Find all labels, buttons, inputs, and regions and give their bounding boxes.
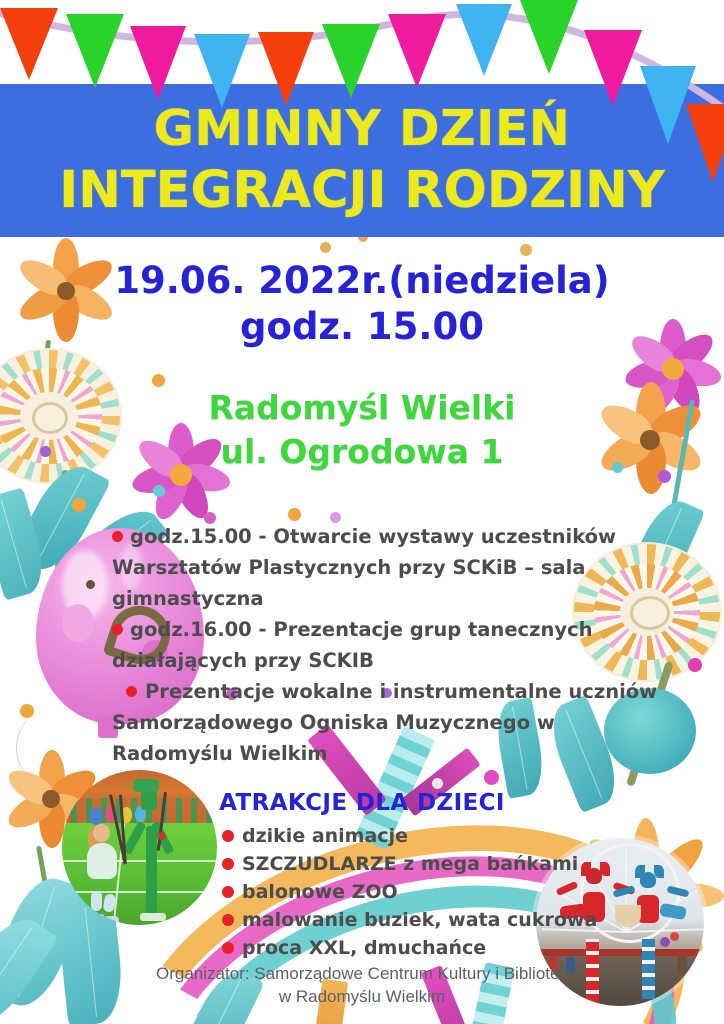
event-date: 19.06. 2022r.(niedziela) xyxy=(0,258,724,304)
teal-leaf xyxy=(56,897,127,1024)
bunting-flag-icon xyxy=(456,4,512,76)
petal xyxy=(646,882,724,910)
petal xyxy=(14,253,72,302)
program-list: godz.15.00 - Otwarcie wystawy uczestnikó… xyxy=(112,521,672,769)
confetti-dot xyxy=(432,778,443,789)
event-city: Radomyśl Wielki xyxy=(0,386,724,430)
lolly-ring xyxy=(620,588,674,636)
lolly-swirl xyxy=(630,596,670,630)
bullet-dot xyxy=(222,858,234,870)
petal xyxy=(665,327,719,378)
petal xyxy=(661,362,706,417)
bullet-dot xyxy=(112,624,123,635)
petal xyxy=(53,238,79,290)
confetti-dot xyxy=(320,242,331,253)
teal-leaf xyxy=(621,493,705,607)
attraction-text: dzikie animacje xyxy=(242,825,408,847)
crayon-teal xyxy=(355,726,435,849)
confetti-dot xyxy=(382,688,392,698)
petal xyxy=(581,886,656,961)
teal-leaf xyxy=(178,963,265,1024)
playground-photo xyxy=(62,770,217,925)
title-banner: GMINNY DZIEŃ INTEGRACJI RODZINY xyxy=(0,84,724,237)
teal-leaf xyxy=(0,907,59,1024)
petal xyxy=(581,831,656,906)
petal xyxy=(129,460,184,498)
crayon-magenta xyxy=(307,724,387,816)
petal xyxy=(641,363,685,418)
lollipop-stick-left xyxy=(54,470,69,580)
teal-leaf xyxy=(492,697,548,798)
petal xyxy=(595,397,658,451)
event-time: godz. 15.00 xyxy=(0,304,724,350)
flower-stem xyxy=(667,400,694,529)
petal xyxy=(46,763,101,810)
bunting-flag-icon xyxy=(0,8,58,80)
attraction-text: malowanie buziek, wata cukrowa xyxy=(242,909,597,931)
program-item: godz.15.00 - Otwarcie wystawy uczestnikó… xyxy=(112,521,672,614)
program-item-text: godz.15.00 - Otwarcie wystawy uczestnikó… xyxy=(112,525,616,610)
confetti-dot xyxy=(612,462,623,473)
flower-stem xyxy=(36,846,58,941)
balloon-knot xyxy=(98,716,118,738)
crayon-magenta xyxy=(401,747,481,816)
program-item: godz.16.00 - Prezentacje grup tanecznych… xyxy=(112,614,672,676)
flower-center xyxy=(640,430,660,450)
lolly-ring xyxy=(574,544,720,680)
teal-leaf xyxy=(67,499,170,593)
teal-leaf xyxy=(0,870,87,1015)
petal xyxy=(660,319,686,368)
crayon-teal xyxy=(463,962,515,1024)
confetti-dot xyxy=(484,770,499,785)
petal xyxy=(169,467,215,523)
petal xyxy=(636,382,666,438)
attraction-item: SZCZUDLARZE z mega bańkami xyxy=(222,850,642,878)
petal xyxy=(53,290,79,342)
organizer-block: Organizator: Samorządowe Centrum Kultury… xyxy=(0,962,724,1008)
balloon-mouth xyxy=(103,598,178,672)
confetti-dot xyxy=(72,498,86,512)
petal xyxy=(178,460,232,496)
lolly-ring xyxy=(594,564,700,660)
petal xyxy=(39,750,65,799)
teal-leaf xyxy=(11,456,111,580)
bunting-flag-icon xyxy=(66,14,124,88)
petal xyxy=(39,750,65,799)
lolly-swirl xyxy=(32,402,68,434)
petal xyxy=(632,896,660,974)
flower-center xyxy=(662,358,684,380)
petal xyxy=(3,788,58,835)
bullet-dot xyxy=(222,830,234,842)
petal xyxy=(636,886,711,961)
petal xyxy=(581,886,656,961)
pink-flower-midleft xyxy=(126,422,236,528)
flower-center xyxy=(170,464,192,486)
poster-title-line-1: GMINNY DZIEŃ xyxy=(0,98,724,160)
petal xyxy=(168,423,194,473)
rainbow-ribbon-pink xyxy=(104,798,717,1024)
bullet-dot xyxy=(126,686,137,697)
confetti-dot xyxy=(226,688,238,700)
teal-leaf xyxy=(0,487,51,600)
confetti-dot xyxy=(20,704,34,718)
confetti-dot xyxy=(204,512,216,524)
orange-flower-lowerleft xyxy=(0,748,108,854)
confetti-dot xyxy=(288,508,301,521)
petal xyxy=(39,750,65,799)
bunting-flag-icon xyxy=(520,0,578,74)
confetti-dot xyxy=(153,485,165,497)
rainbow-ribbon-orange xyxy=(83,764,724,1024)
orange-flower-topleft xyxy=(8,236,126,348)
flower-stem xyxy=(36,340,51,440)
balloon-cheek xyxy=(142,640,168,666)
balloon-gloss xyxy=(120,544,142,590)
confetti-dot xyxy=(658,470,671,483)
petal xyxy=(632,818,660,896)
confetti-dot xyxy=(40,446,51,457)
pink-flower-upperright xyxy=(618,318,724,422)
orange-sunflower-bottomright xyxy=(560,818,724,988)
petal xyxy=(60,279,118,328)
bullet-dot xyxy=(112,531,123,542)
petal xyxy=(670,355,723,391)
petal xyxy=(60,253,118,302)
petal xyxy=(173,431,228,483)
attraction-item: dzikie animacje xyxy=(222,822,642,850)
confetti-dot xyxy=(688,658,702,672)
petal xyxy=(636,438,666,494)
crayon-magenta xyxy=(421,965,474,1024)
lollipop-right xyxy=(572,542,722,682)
rainbow-ribbon-white xyxy=(145,865,690,1024)
orange-flower-right xyxy=(588,380,714,500)
balloon-cheek xyxy=(62,604,94,642)
pink-balloon-large xyxy=(36,528,204,724)
attraction-item: proca XXL, dmuchańce xyxy=(222,934,642,962)
petal xyxy=(595,425,658,479)
poster: GMINNY DZIEŃ INTEGRACJI RODZINY 19.06. 2… xyxy=(0,0,724,1024)
attraction-text: proca XXL, dmuchańce xyxy=(242,937,486,959)
bullet-dot xyxy=(222,942,234,954)
petal xyxy=(568,882,646,910)
petal xyxy=(622,355,676,393)
lollipop-left xyxy=(0,348,122,484)
crayon-orange xyxy=(310,979,349,1024)
petal xyxy=(636,831,711,906)
event-location-block: Radomyśl Wielki ul. Ogrodowa 1 xyxy=(0,386,724,474)
teal-lollipop-right xyxy=(604,688,696,774)
petal xyxy=(636,886,711,961)
bullet-dot xyxy=(222,914,234,926)
confetti-dot xyxy=(152,374,165,387)
attractions-list: dzikie animacje SZCZUDLARZE z mega bańka… xyxy=(222,822,642,962)
petal xyxy=(14,279,72,328)
stilt-walkers-photo xyxy=(536,838,704,1006)
organizer-line-2: w Radomyślu Wielkim xyxy=(0,985,724,1008)
confetti-dot xyxy=(330,512,341,523)
attraction-text: SZCZUDLARZE z mega bańkami xyxy=(242,853,578,875)
event-date-block: 19.06. 2022r.(niedziela) godz. 15.00 xyxy=(0,258,724,350)
program-item-text: godz.16.00 - Prezentacje grup tanecznych… xyxy=(112,618,593,672)
lolly-ring xyxy=(20,392,78,440)
lolly-ring xyxy=(0,368,102,464)
attractions-heading: ATRAKCJE DLA DZIECI xyxy=(0,790,724,816)
rainbow-ribbon-teal xyxy=(121,828,720,1024)
bunting-flag-icon xyxy=(388,14,446,88)
petal xyxy=(46,788,101,835)
petal xyxy=(39,799,65,848)
event-street: ul. Ogrodowa 1 xyxy=(0,430,724,474)
petal xyxy=(149,468,193,524)
program-item: Prezentacje wokalne i instrumentalne ucz… xyxy=(112,676,672,769)
petal xyxy=(644,425,707,479)
petal xyxy=(626,329,681,379)
flower-center xyxy=(42,790,60,808)
poster-title-line-2: INTEGRACJI RODZINY xyxy=(0,160,724,222)
petal xyxy=(133,433,189,483)
petal xyxy=(644,397,707,451)
program-item-text: Prezentacje wokalne i instrumentalne ucz… xyxy=(112,680,657,765)
attraction-item: balonowe ZOO xyxy=(222,878,642,906)
teal-leaf xyxy=(542,695,627,813)
balloon-eye xyxy=(86,580,95,589)
attraction-item: malowanie buziek, wata cukrowa xyxy=(222,906,642,934)
balloon-gloss xyxy=(62,550,108,620)
bullet-dot xyxy=(222,886,234,898)
petal xyxy=(3,763,58,810)
confetti-dot xyxy=(520,244,532,256)
lollipop-stick-right xyxy=(626,661,674,787)
attraction-text: balonowe ZOO xyxy=(242,881,398,903)
lolly-ring xyxy=(0,350,120,482)
balloon-string xyxy=(16,712,77,784)
flower-center xyxy=(57,282,75,300)
organizer-line-1: Organizator: Samorządowe Centrum Kultury… xyxy=(0,962,724,985)
